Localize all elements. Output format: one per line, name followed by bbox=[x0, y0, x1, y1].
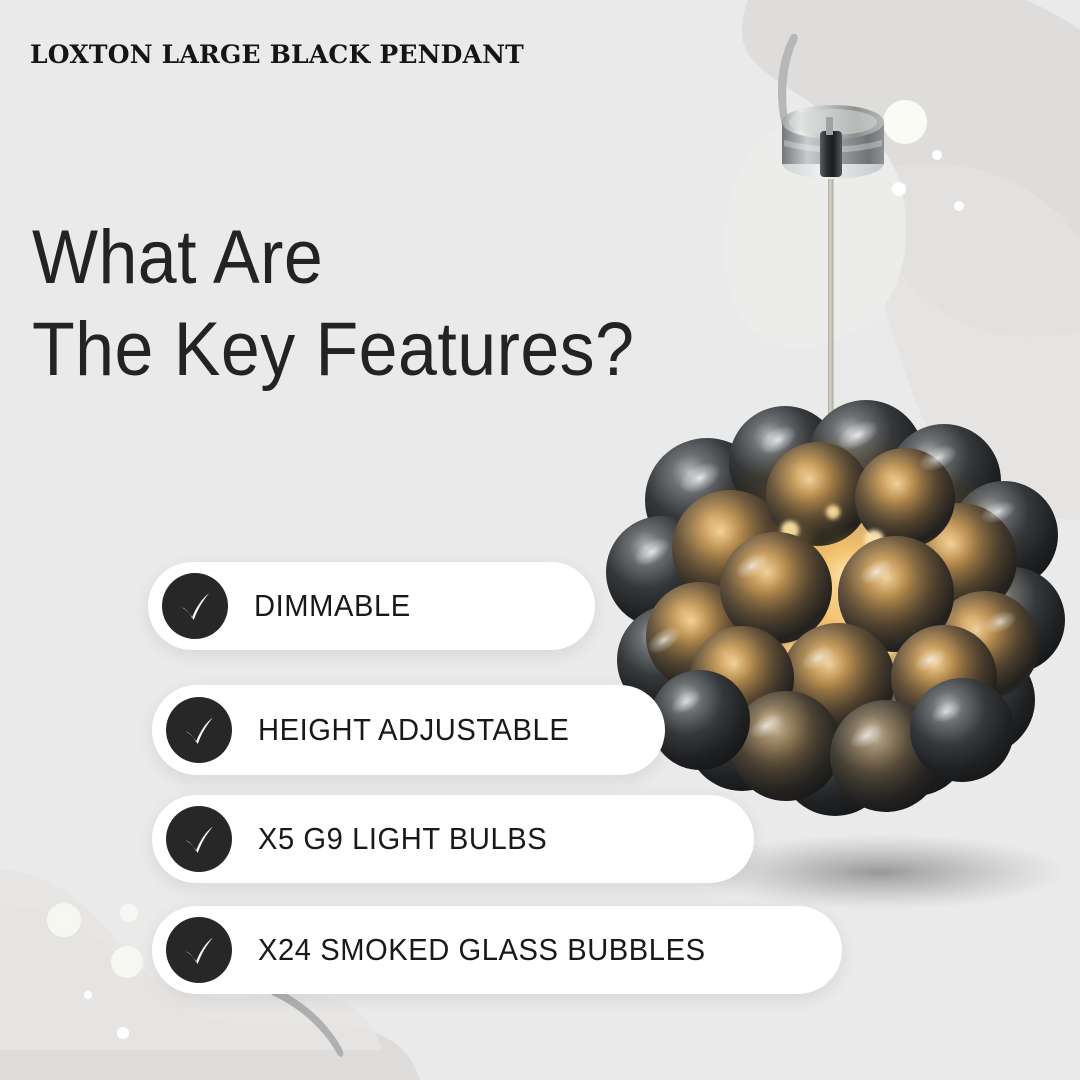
page-title: LOXTON LARGE BLACK PENDANT bbox=[30, 40, 524, 69]
check-icon bbox=[166, 697, 232, 763]
headline-line-1: What Are bbox=[32, 212, 634, 304]
check-icon bbox=[166, 806, 232, 872]
feature-label: HEIGHT ADJUSTABLE bbox=[258, 712, 569, 748]
check-icon bbox=[162, 573, 228, 639]
feature-item-height-adjustable[interactable]: HEIGHT ADJUSTABLE bbox=[152, 685, 665, 775]
feature-item-light-bulbs[interactable]: X5 G9 LIGHT BULBS bbox=[152, 795, 754, 883]
headline: What Are The Key Features? bbox=[32, 212, 634, 396]
check-icon bbox=[166, 917, 232, 983]
poster-canvas: LOXTON LARGE BLACK PENDANT What Are The … bbox=[0, 0, 1080, 1080]
feature-label: DIMMABLE bbox=[254, 588, 411, 624]
feature-label: X24 SMOKED GLASS BUBBLES bbox=[258, 932, 706, 968]
feature-item-dimmable[interactable]: DIMMABLE bbox=[148, 562, 595, 650]
feature-list: DIMMABLE HEIGHT ADJUSTABLE X5 G9 LIGHT B… bbox=[0, 0, 1080, 1080]
feature-item-glass-bubbles[interactable]: X24 SMOKED GLASS BUBBLES bbox=[152, 906, 842, 994]
feature-label: X5 G9 LIGHT BULBS bbox=[258, 821, 547, 857]
headline-line-2: The Key Features? bbox=[32, 304, 634, 396]
